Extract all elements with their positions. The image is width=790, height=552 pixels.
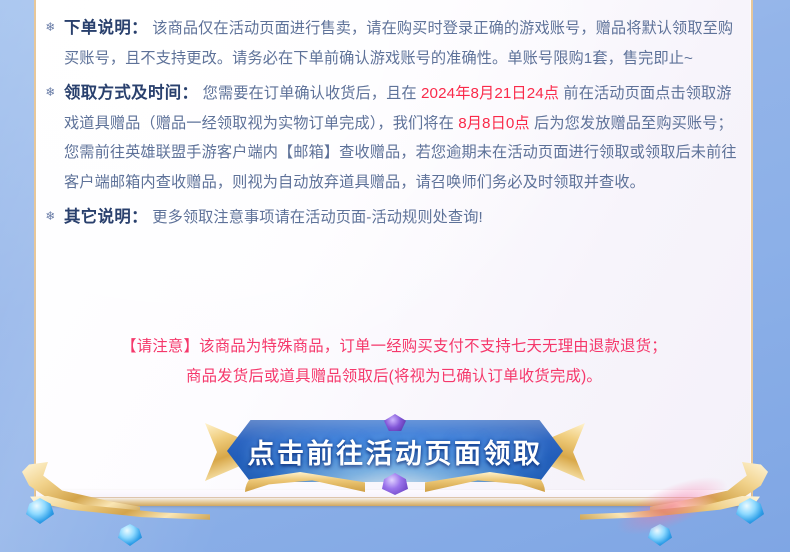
flower-bullet-icon: ❄ xyxy=(44,210,57,223)
blue-gem-icon xyxy=(648,524,672,546)
scroll-swirl-right xyxy=(425,472,545,492)
rules-list: ❄ 下单说明： 该商品仅在活动页面进行售卖，请在购买时登录正确的游戏账号，赠品将… xyxy=(44,14,744,233)
scroll-swirl-left xyxy=(245,472,365,492)
blue-gem-icon xyxy=(118,524,142,546)
notice-line-1: 【请注意】该商品为特殊商品，订单一经购买支付不支持七天无理由退款退货； xyxy=(121,338,667,355)
rule-heading: 领取方式及时间： xyxy=(64,84,198,102)
rule-text: 该商品仅在活动页面进行售卖，请在购买时登录正确的游戏账号，赠品将默认领取至购买账… xyxy=(64,20,733,67)
rule-text-part-1: 您需要在订单确认收货后，且在 xyxy=(203,85,417,102)
flower-bullet-icon: ❄ xyxy=(44,86,57,99)
rule-heading: 其它说明： xyxy=(64,208,148,226)
rule-text: 更多领取注意事项请在活动页面-活动规则处查询! xyxy=(152,209,483,226)
rule-item-order-notes: ❄ 下单说明： 该商品仅在活动页面进行售卖，请在购买时登录正确的游戏账号，赠品将… xyxy=(44,14,744,73)
flower-bullet-icon: ❄ xyxy=(44,21,57,34)
rule-item-other-notes: ❄ 其它说明： 更多领取注意事项请在活动页面-活动规则处查询! xyxy=(44,203,744,233)
panel-bottom-hairline xyxy=(40,497,746,498)
cta-button-label: 点击前往活动页面领取 xyxy=(248,432,543,471)
rule-item-claim-method-time: ❄ 领取方式及时间： 您需要在订单确认收货后，且在 2024年8月21日24点 … xyxy=(44,79,744,197)
rule-heading: 下单说明： xyxy=(64,19,148,37)
refund-warning-notice: 【请注意】该商品为特殊商品，订单一经购买支付不支持七天无理由退款退货； 商品发货… xyxy=(44,332,744,392)
rule-highlight-deadline: 2024年8月21日24点 xyxy=(421,85,559,102)
cta-container: 点击前往活动页面领取 xyxy=(205,414,585,492)
notice-line-2: 商品发货后或道具赠品领取后(将视为已确认订单收货完成)。 xyxy=(44,362,744,392)
rule-highlight-delivery-time: 8月8日0点 xyxy=(458,115,530,132)
promo-rules-page: ❄ 下单说明： 该商品仅在活动页面进行售卖，请在购买时登录正确的游戏账号，赠品将… xyxy=(0,0,790,552)
